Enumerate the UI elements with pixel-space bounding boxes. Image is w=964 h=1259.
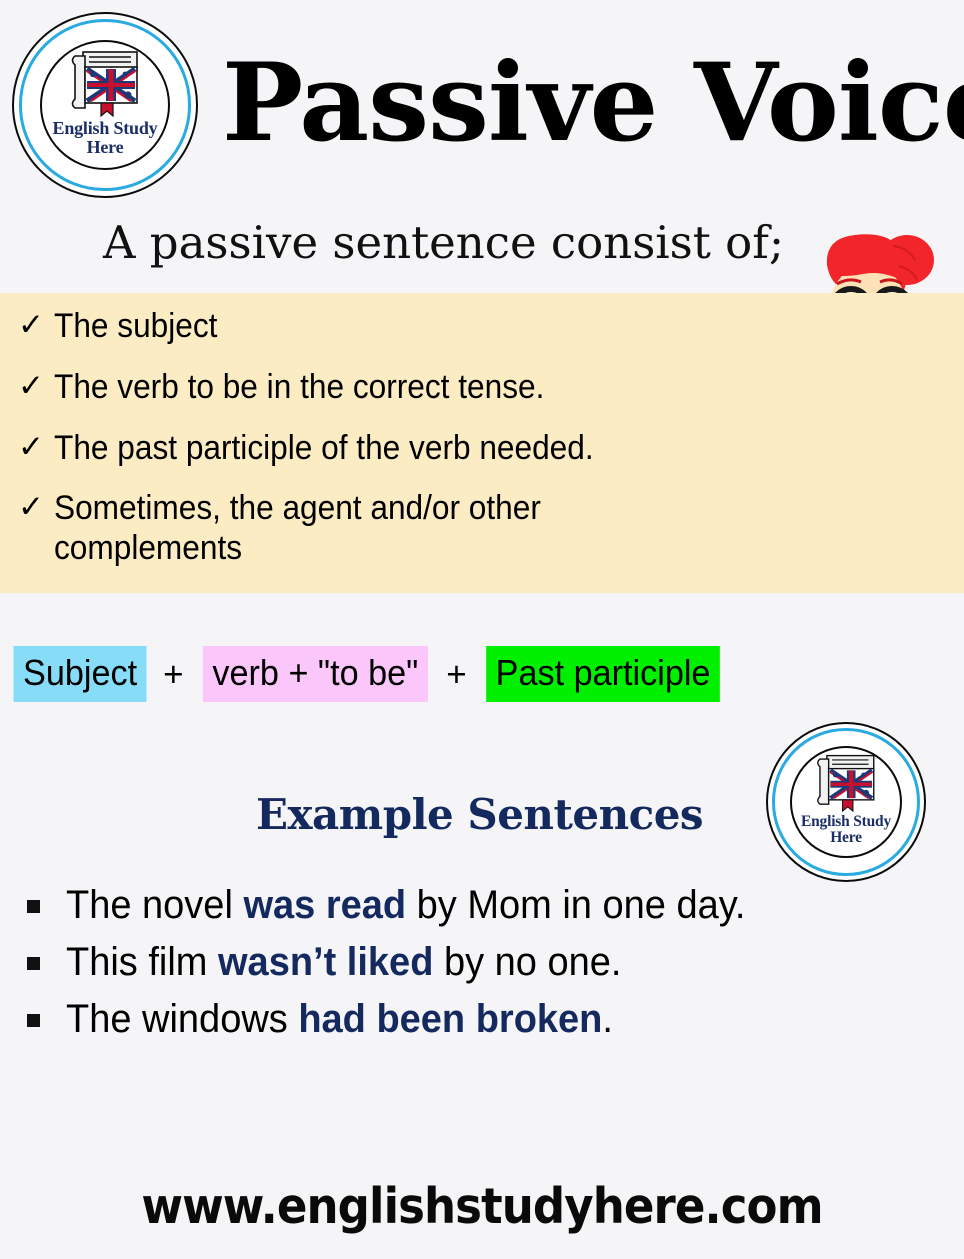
brand-logo-top: English Study Here xyxy=(12,12,198,198)
book-flag-icon xyxy=(67,49,143,117)
list-item: The windows had been broken. xyxy=(0,994,900,1045)
example-sentence: This film wasn’t liked by no one. xyxy=(66,937,858,988)
sentence-prefix: The novel xyxy=(66,883,243,927)
check-icon: ✓ xyxy=(8,368,54,404)
website-url: www.englishstudyhere.com xyxy=(39,1178,926,1235)
checklist-panel: ✓ The subject ✓ The verb to be in the co… xyxy=(0,293,964,593)
sentence-suffix: by Mom in one day. xyxy=(406,883,745,927)
sentence-prefix: The windows xyxy=(66,997,298,1041)
formula-plus-2: + xyxy=(433,657,479,692)
check-icon: ✓ xyxy=(8,429,54,465)
subtitle: A passive sentence consist of; xyxy=(103,216,784,269)
checklist-item: ✓ The verb to be in the correct tense. xyxy=(8,368,838,408)
formula-subject-chip: Subject xyxy=(14,646,147,702)
logo-text-line1: English Study xyxy=(801,814,891,830)
example-sentences-list: The novel was read by Mom in one day. Th… xyxy=(0,880,900,1046)
check-icon: ✓ xyxy=(8,307,54,343)
sentence-suffix: by no one. xyxy=(433,940,621,984)
list-item: The novel was read by Mom in one day. xyxy=(0,880,900,931)
list-item: This film wasn’t liked by no one. xyxy=(0,937,900,988)
square-bullet-icon xyxy=(0,994,66,1027)
square-bullet-icon xyxy=(0,880,66,913)
sentence-prefix: This film xyxy=(66,940,218,984)
example-sentences-heading: Example Sentences xyxy=(256,790,703,839)
passive-verb-highlight: had been broken xyxy=(298,997,602,1041)
brand-logo-middle: English Study Here xyxy=(766,722,926,882)
example-sentence: The windows had been broken. xyxy=(66,994,858,1045)
page-title: Passive Voice xyxy=(222,40,964,166)
example-sentence: The novel was read by Mom in one day. xyxy=(66,880,817,931)
checklist-item-label: The subject xyxy=(54,307,783,347)
sentence-suffix: . xyxy=(602,997,613,1041)
checklist-item: ✓ Sometimes, the agent and/or other comp… xyxy=(8,489,838,569)
infographic-page: English Study Here Passive Voice A passi… xyxy=(0,0,964,1259)
checklist-item: ✓ The past participle of the verb needed… xyxy=(8,429,838,469)
formula-plus-1: + xyxy=(150,657,196,692)
logo-text-line2: Here xyxy=(87,138,124,157)
checklist-item-label: The past participle of the verb needed. xyxy=(54,429,783,469)
logo-text-line1: English Study xyxy=(53,119,158,138)
passive-verb-highlight: was read xyxy=(243,883,406,927)
checklist: ✓ The subject ✓ The verb to be in the co… xyxy=(8,307,838,569)
checklist-item: ✓ The subject xyxy=(8,307,838,347)
check-icon: ✓ xyxy=(8,489,54,525)
checklist-item-label: The verb to be in the correct tense. xyxy=(54,368,783,408)
formula-past-participle-chip: Past participle xyxy=(486,646,720,702)
logo-text-line2: Here xyxy=(830,830,862,846)
logo-content: English Study Here xyxy=(40,40,170,170)
formula-tobe-chip: verb + "to be" xyxy=(202,646,427,702)
checklist-item-label: Sometimes, the agent and/or other comple… xyxy=(54,489,705,569)
square-bullet-icon xyxy=(0,937,66,970)
book-flag-icon xyxy=(813,753,879,812)
formula-row: Subject + verb + "to be" + Past particip… xyxy=(10,646,726,702)
logo-content: English Study Here xyxy=(790,746,902,858)
passive-verb-highlight: wasn’t liked xyxy=(218,940,433,984)
